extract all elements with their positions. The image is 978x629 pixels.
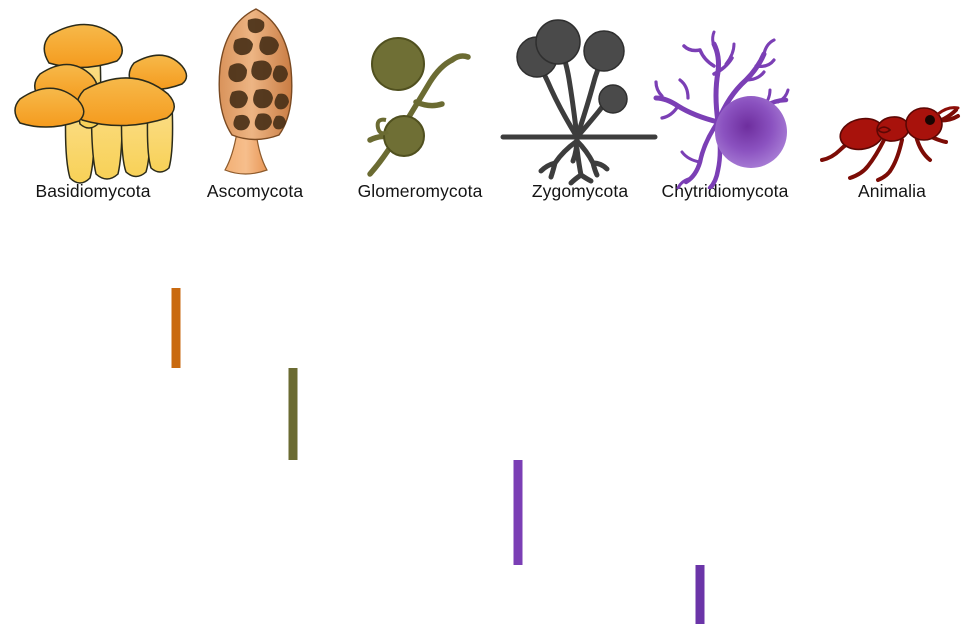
phylogenetic-tree-diagram: Basidiomycota Ascomycota — [0, 0, 978, 629]
bread-mold-sporangia-icon — [497, 9, 662, 189]
cluster-of-mushrooms-icon — [10, 8, 195, 193]
morel-mushroom-icon — [196, 4, 316, 189]
arbuscular-spores-icon — [352, 14, 482, 189]
bread-mold-sporangia-icon — [497, 9, 662, 189]
morel-mushroom-icon — [196, 4, 316, 189]
chytrid-rhizoid-icon — [648, 14, 808, 189]
cluster-of-mushrooms-icon — [10, 8, 195, 193]
ant-icon — [818, 94, 968, 189]
arbuscular-spores-icon — [352, 14, 482, 189]
chytrid-rhizoid-icon — [648, 14, 808, 189]
ant-icon — [818, 94, 968, 189]
